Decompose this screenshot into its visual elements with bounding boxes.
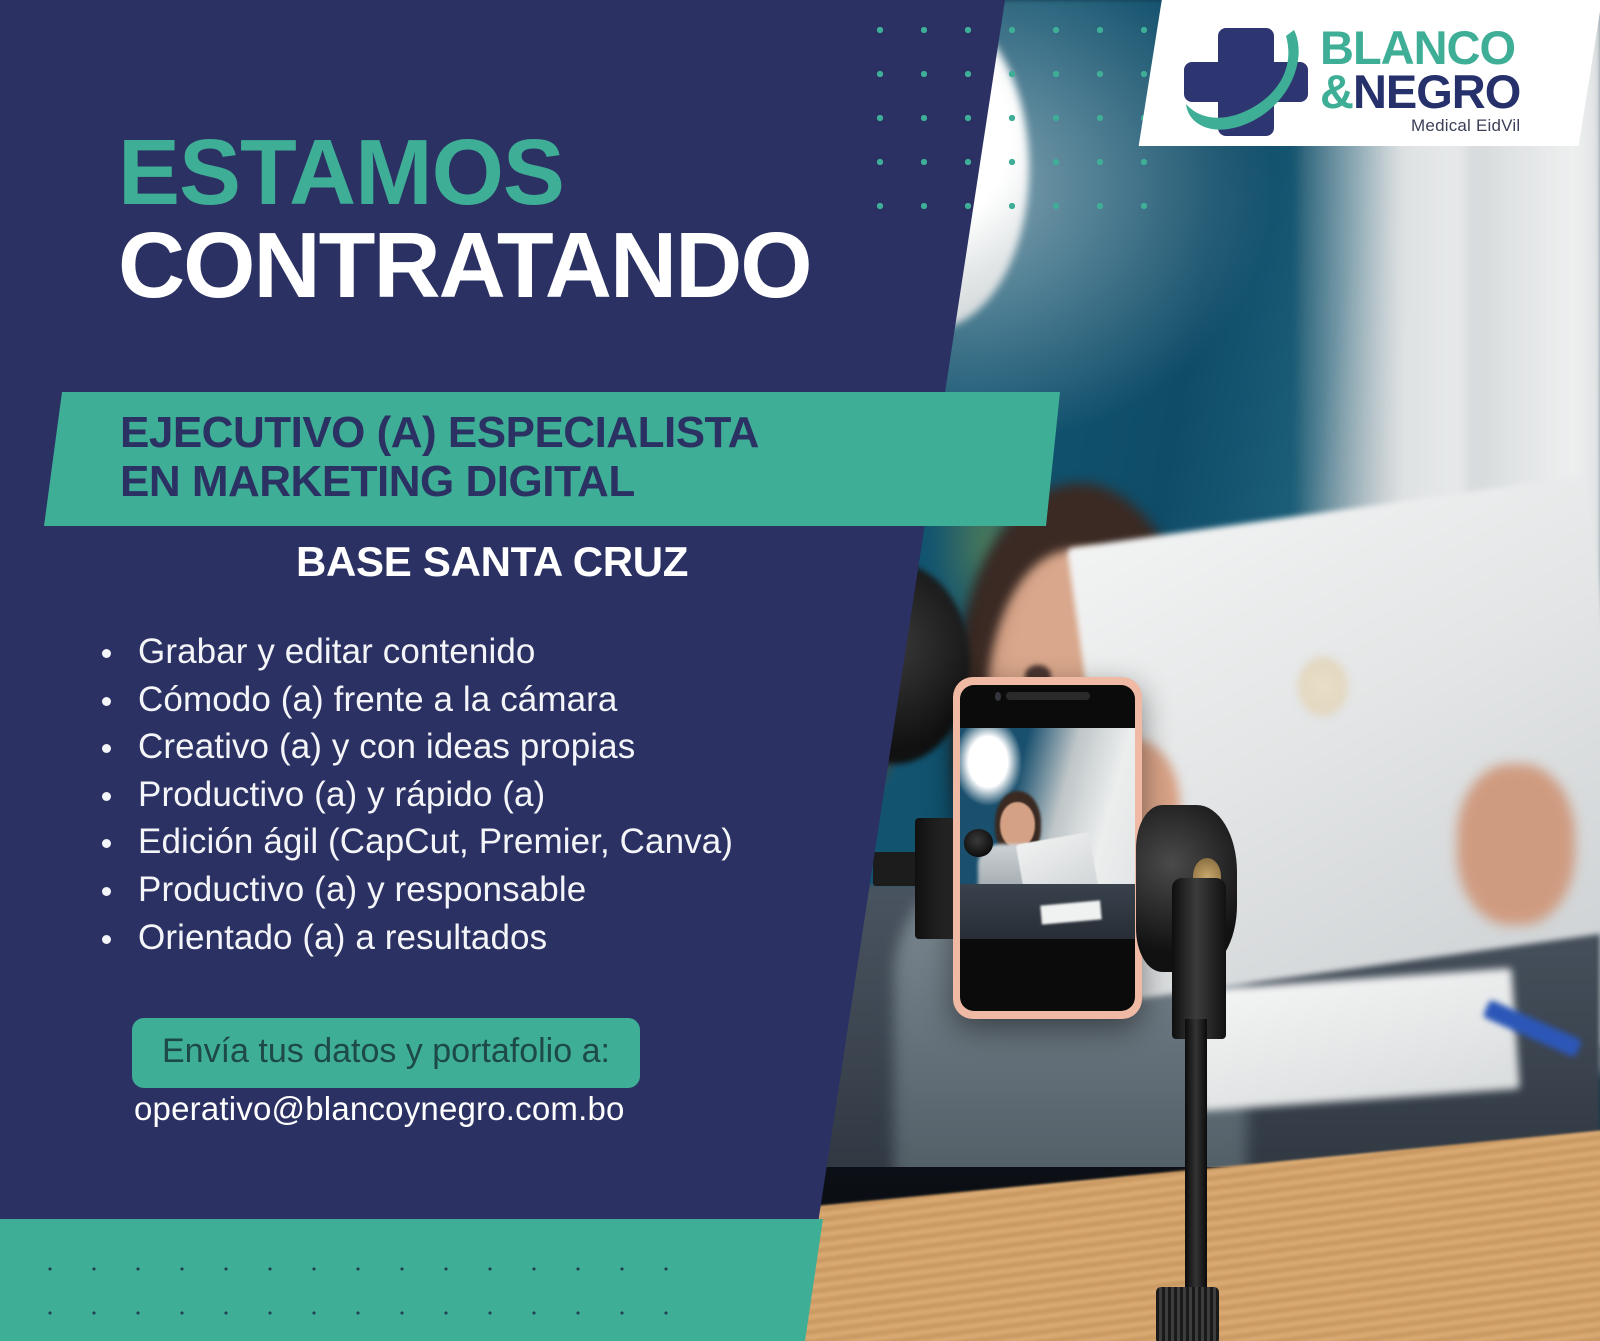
phone-front-camera-icon (995, 692, 1001, 700)
logo-line-blanco: BLANCO (1320, 26, 1520, 69)
phone-earpiece (1006, 692, 1090, 700)
list-item: Productivo (a) y rápido (a) (96, 771, 733, 819)
tripod-knob-upper (1156, 1287, 1219, 1341)
logo-ampersand: & (1320, 65, 1353, 118)
company-logo: BLANCO &NEGRO Medical EidVil (1182, 14, 1600, 146)
logo-line-negro: &NEGRO (1320, 70, 1520, 113)
list-item: Edición ágil (CapCut, Premier, Canva) (96, 818, 733, 866)
cta-label: Envía tus datos y portafolio a: (132, 1018, 640, 1088)
job-location: BASE SANTA CRUZ (296, 538, 688, 586)
list-item: Orientado (a) a resultados (96, 914, 733, 962)
headline-line-2: CONTRATANDO (118, 221, 811, 310)
phone-screen (960, 685, 1135, 1011)
contact-email[interactable]: operativo@blancoynegro.com.bo (134, 1090, 625, 1128)
headline-line-1: ESTAMOS (118, 128, 811, 217)
medical-cross-swoosh-icon (1182, 20, 1310, 140)
logo-negro-word: NEGRO (1353, 65, 1520, 118)
job-posting-poster: BLANCO &NEGRO Medical EidVil ESTAMOS CON… (0, 0, 1600, 1341)
list-item: Creativo (a) y con ideas propias (96, 723, 733, 771)
photo-hand-right (1457, 764, 1575, 925)
list-item: Productivo (a) y responsable (96, 866, 733, 914)
requirements-list: Grabar y editar contenido Cómodo (a) fre… (96, 628, 733, 961)
tripod-neck (1172, 878, 1227, 1039)
phone-preview-image (960, 728, 1135, 940)
list-item: Grabar y editar contenido (96, 628, 733, 676)
job-title-line-1: EJECUTIVO (A) ESPECIALISTA (120, 408, 759, 457)
list-item: Cómodo (a) frente a la cámara (96, 676, 733, 724)
logo-tagline: Medical EidVil (1320, 118, 1520, 134)
logo-wordmark: BLANCO &NEGRO Medical EidVil (1320, 26, 1520, 133)
bottom-dot-pattern (28, 1247, 688, 1341)
tripod-pole (1185, 1019, 1207, 1314)
photo-laptop-logo (1298, 657, 1348, 716)
job-title: EJECUTIVO (A) ESPECIALISTA EN MARKETING … (120, 408, 759, 507)
job-title-line-2: EN MARKETING DIGITAL (120, 457, 759, 506)
phone-preview-microphone (964, 829, 994, 857)
top-dot-pattern (858, 8, 1178, 226)
page-title: ESTAMOS CONTRATANDO (118, 128, 811, 311)
photo-notebook (1193, 968, 1520, 1111)
photo-smartphone (953, 677, 1142, 1019)
